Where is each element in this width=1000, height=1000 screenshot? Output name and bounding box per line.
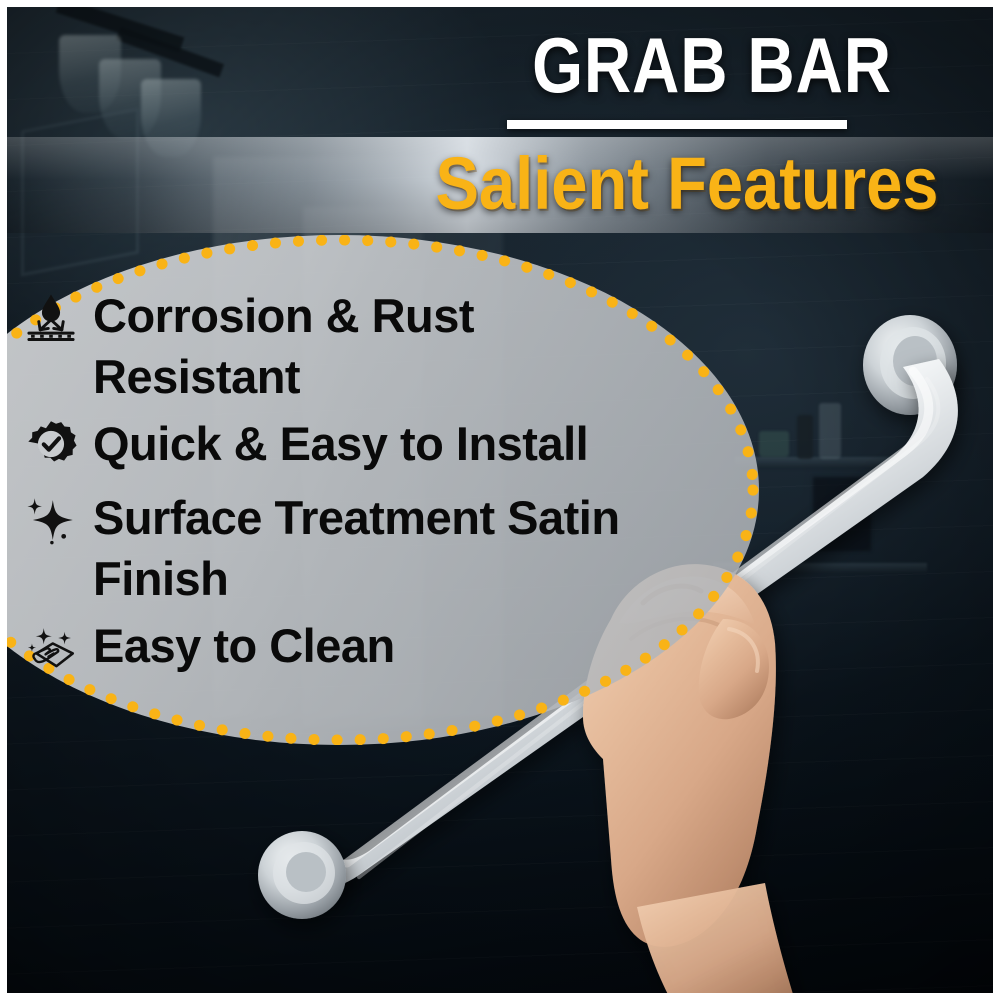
feature-item: Surface Treatment Satin Finish: [7, 487, 707, 609]
sparkle-icon: [19, 487, 83, 555]
subtitle: Salient Features: [414, 141, 960, 227]
gear-check-icon: [19, 413, 83, 481]
feature-item: Quick & Easy to Install: [7, 413, 707, 481]
poster-header: GRAB BAR Salient Features: [7, 7, 993, 235]
features-list: Corrosion & Rust Resistant Quick & Easy …: [7, 285, 707, 689]
title-underline: [507, 120, 847, 129]
feature-label: Quick & Easy to Install: [93, 413, 588, 474]
feature-label: Surface Treatment Satin Finish: [93, 487, 693, 609]
feature-item: Corrosion & Rust Resistant: [7, 285, 707, 407]
feature-label: Corrosion & Rust Resistant: [93, 285, 693, 407]
feature-label: Easy to Clean: [93, 615, 395, 676]
poster-canvas: GRAB BAR Salient Features: [0, 0, 1000, 1000]
water-repellent-icon: [19, 285, 83, 353]
feature-item: Easy to Clean: [7, 615, 707, 683]
page-title: GRAB BAR: [481, 23, 943, 107]
hand-wipe-sparkle-icon: [19, 615, 83, 683]
